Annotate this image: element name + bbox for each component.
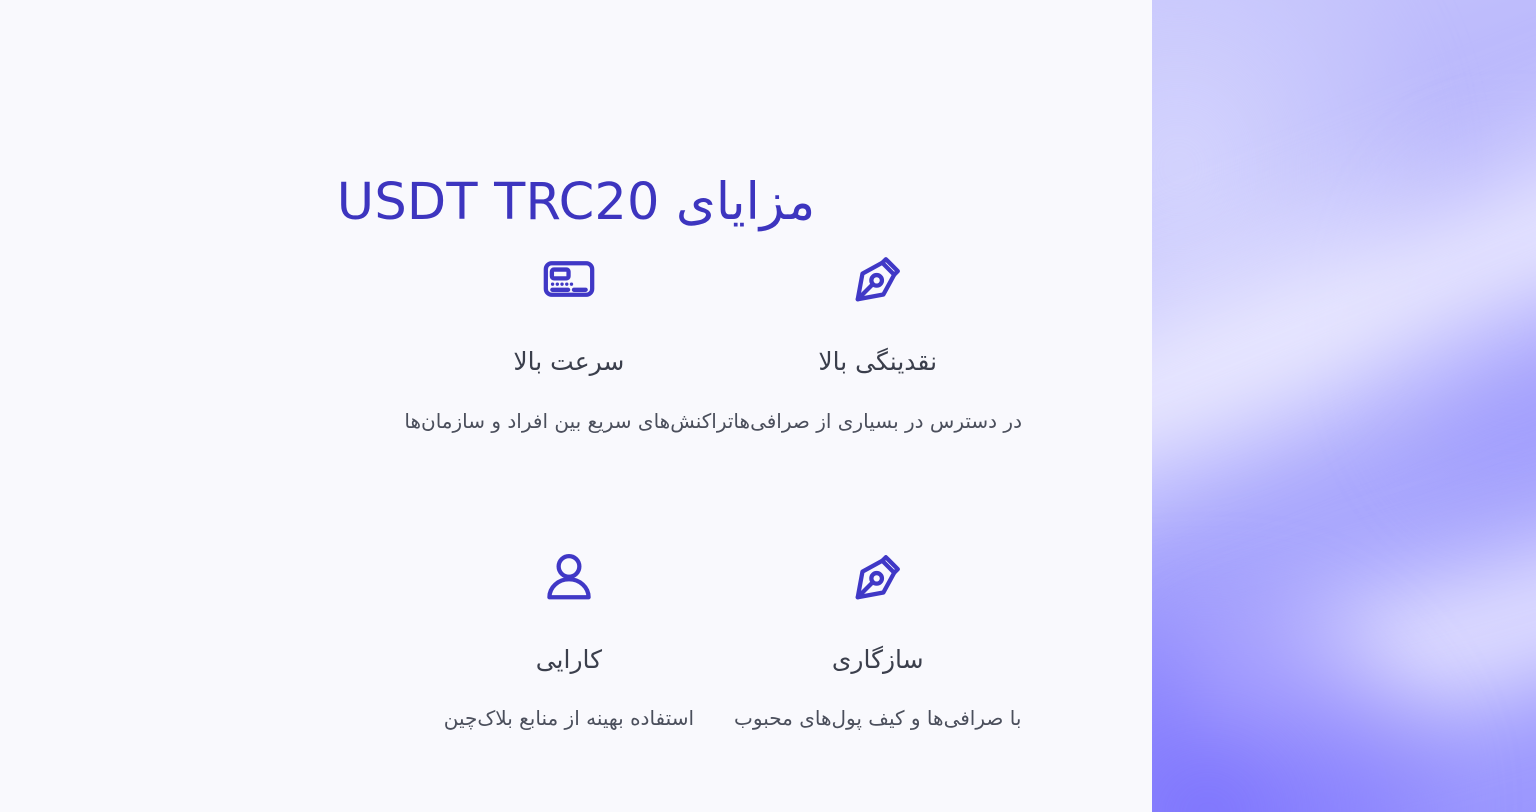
feature-card-naghdinegi: نقدینگی بالا در دسترس در بسیاری از صرافی… (733, 252, 1022, 436)
feature-card-sazegari: سازگاری با صرافی‌ها و کیف پول‌های محبوب (733, 436, 1022, 734)
user-icon (542, 550, 596, 604)
feature-title: کارایی (404, 644, 733, 677)
feature-card-sorat: سرعت بالا تراکنش‌های سریع بین افراد و سا… (404, 252, 733, 436)
decorative-gradient-panel (1152, 0, 1536, 812)
page-root: مزایای USDT TRC20 نقدینگی بالا در دسترس … (0, 0, 1536, 812)
pen-nib-icon (851, 550, 905, 604)
features-content-panel: مزایای USDT TRC20 نقدینگی بالا در دسترس … (0, 0, 1152, 812)
feature-description: استفاده بهینه از منابع بلاک‌چین (404, 704, 733, 733)
feature-description: در دسترس در بسیاری از صرافی‌ها (733, 407, 1022, 436)
feature-title: سازگاری (733, 644, 1022, 677)
page-title: مزایای USDT TRC20 (0, 172, 1152, 233)
pen-nib-icon (851, 252, 905, 306)
gradient-shade-bottom-left (1152, 562, 1472, 812)
feature-description: با صرافی‌ها و کیف پول‌های محبوب (733, 704, 1022, 733)
credit-card-icon (542, 252, 596, 306)
feature-description: تراکنش‌های سریع بین افراد و سازمان‌ها (404, 407, 733, 436)
feature-title: نقدینگی بالا (733, 346, 1022, 379)
feature-title: سرعت بالا (404, 346, 733, 379)
features-grid: نقدینگی بالا در دسترس در بسیاری از صرافی… (430, 252, 1022, 733)
feature-card-karai: کارایی استفاده بهینه از منابع بلاک‌چین (404, 436, 733, 734)
